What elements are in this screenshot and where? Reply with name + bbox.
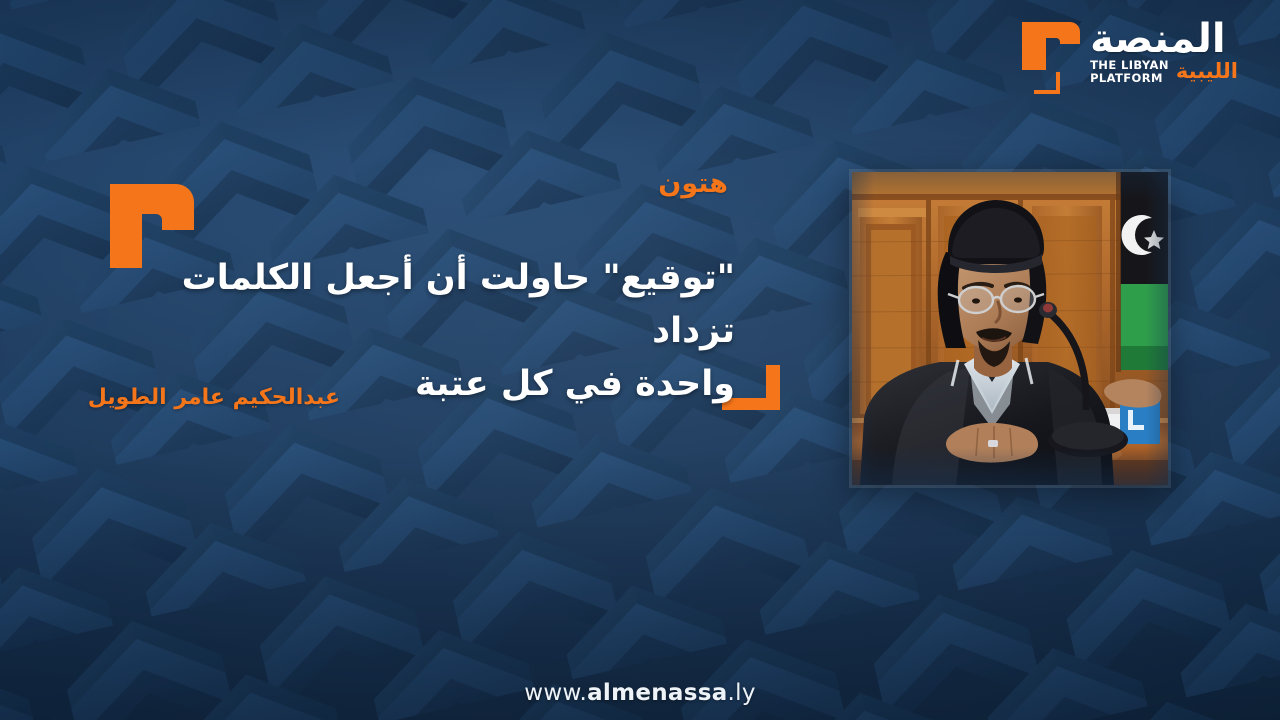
kicker-label: هتون: [658, 168, 728, 199]
brand-logo[interactable]: المنصة الليبية THE LIBYAN PLATFORM: [1018, 18, 1238, 96]
logo-wordmark: المنصة الليبية THE LIBYAN PLATFORM: [1090, 18, 1238, 85]
subject-photo: [852, 172, 1168, 485]
logo-subtitle-row: الليبية THE LIBYAN PLATFORM: [1090, 59, 1238, 85]
platform-logo-mark-icon: [1018, 18, 1082, 96]
logo-english-line1: THE LIBYAN: [1090, 59, 1169, 72]
author-name: عبدالحكيم عامر الطويل: [88, 385, 340, 410]
url-prefix: www.: [524, 680, 587, 706]
logo-english-line2: PLATFORM: [1090, 72, 1169, 85]
logo-arabic-title: المنصة: [1090, 20, 1226, 58]
headline-line-1: "توقيع" حاولت أن أجعل الكلمات تزداد: [95, 252, 735, 358]
logo-english-subtitle: THE LIBYAN PLATFORM: [1090, 59, 1169, 85]
quote-card: المنصة الليبية THE LIBYAN PLATFORM: [0, 0, 1280, 720]
url-tld: .ly: [728, 680, 756, 706]
url-domain: almenassa: [587, 680, 727, 706]
logo-arabic-subtitle: الليبية: [1176, 61, 1238, 82]
website-url[interactable]: www.almenassa.ly: [0, 680, 1280, 706]
